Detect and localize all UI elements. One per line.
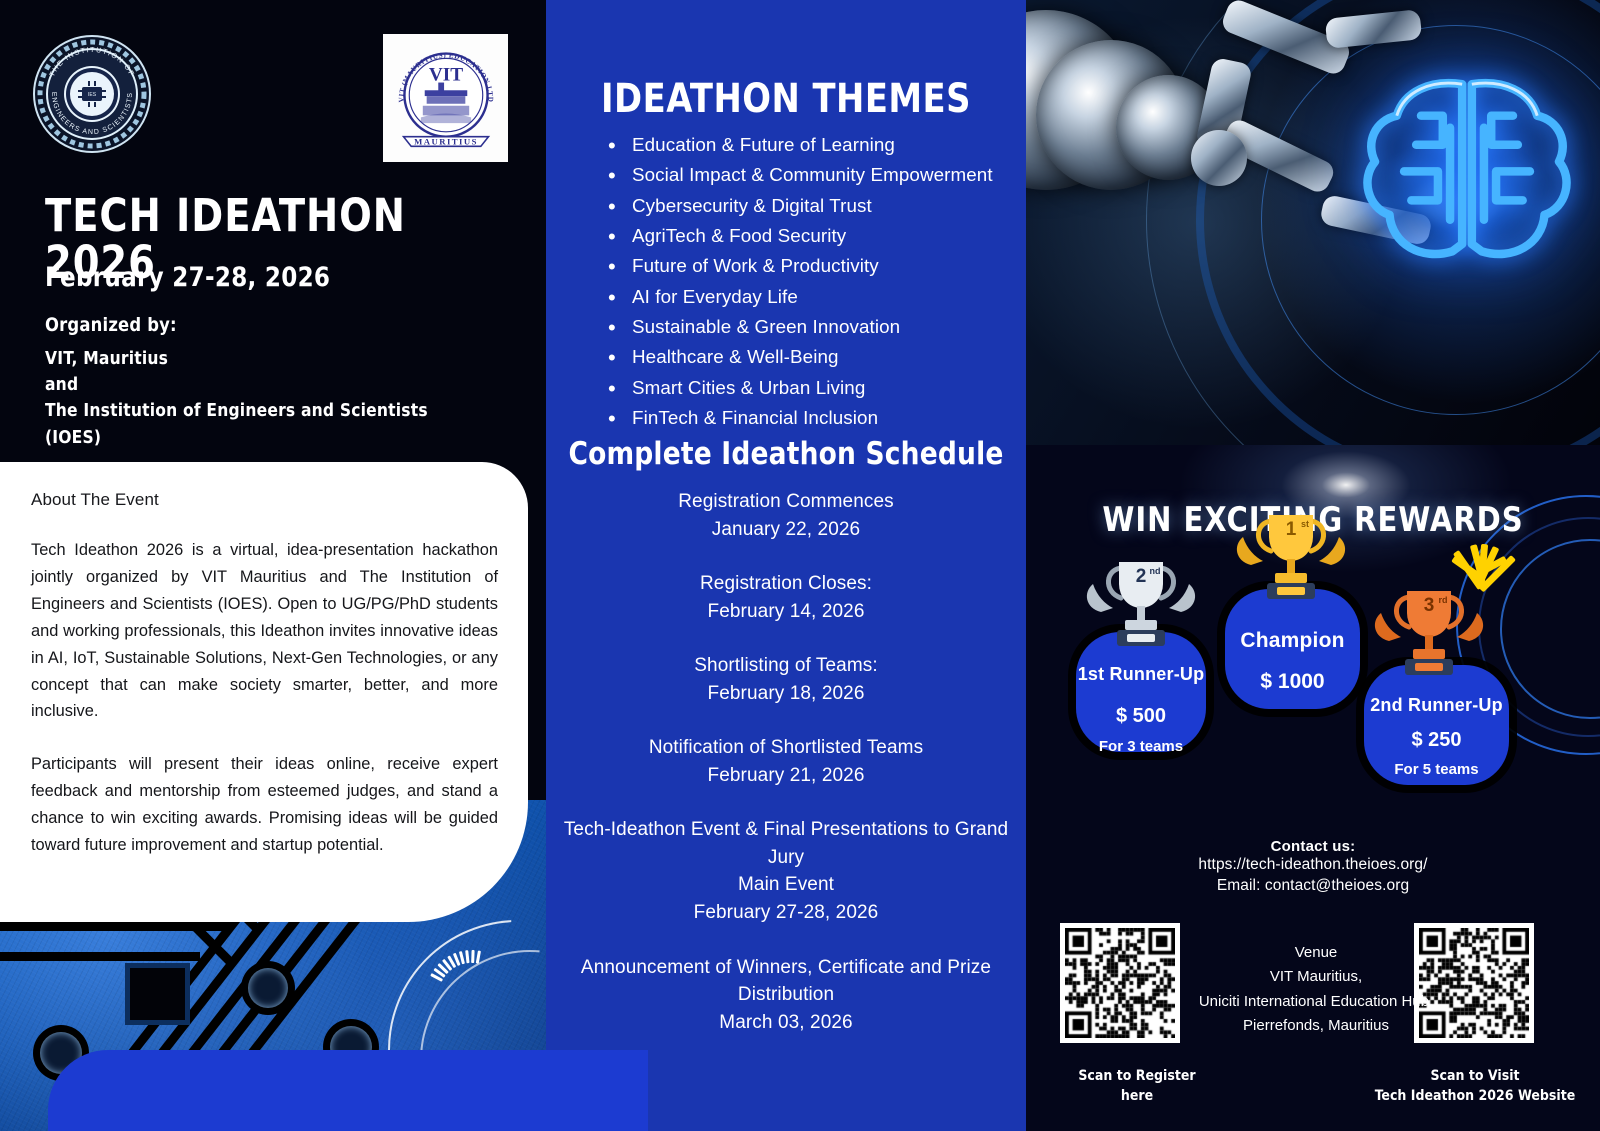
svg-text:IES: IES: [88, 92, 97, 98]
schedule-date: January 22, 2026: [562, 516, 1010, 544]
poster-root: IES THE INSTITUTION OF ENGINEERS AND SCI…: [0, 0, 1600, 1131]
svg-text:nd: nd: [1150, 566, 1161, 576]
about-event-card: About The Event Tech Ideathon 2026 is a …: [0, 462, 528, 922]
schedule-list: Registration CommencesJanuary 22, 2026Re…: [562, 488, 1010, 1063]
venue-line-0: VIT Mauritius,: [1166, 965, 1466, 989]
left-panel: IES THE INSTITUTION OF ENGINEERS AND SCI…: [0, 0, 546, 1131]
theme-item: Social Impact & Community Empowerment: [602, 162, 1022, 188]
prize-amount: $ 250: [1364, 729, 1509, 752]
themes-title: IDEATHON THEMES: [560, 76, 1011, 122]
schedule-item: Registration CommencesJanuary 22, 2026: [562, 488, 1010, 543]
theme-item: Future of Work & Productivity: [602, 253, 1022, 279]
event-date: February 27-28, 2026: [45, 262, 492, 293]
theme-item: Healthcare & Well-Being: [602, 344, 1022, 370]
schedule-title: Complete Ideathon Schedule: [558, 436, 1014, 472]
schedule-date: February 18, 2026: [562, 680, 1010, 708]
organizer-2: The Institution of Engineers and Scienti…: [45, 398, 506, 424]
venue-label: Venue: [1166, 941, 1466, 965]
robot-ai-brain-image: [1026, 0, 1600, 445]
organizers-block: Organized by: VIT, Mauritius and The Ins…: [45, 312, 506, 451]
venue-block: Venue VIT Mauritius, Uniciti Internation…: [1166, 941, 1466, 1038]
silver-trophy-icon: 2 nd: [1079, 550, 1203, 662]
bottom-blue-bar: [48, 1050, 648, 1131]
ai-brain-icon: [1342, 60, 1592, 290]
organizer-1: and: [45, 372, 506, 398]
scan-to-visit-label: Scan to VisitTech Ideathon 2026 Website: [1350, 1066, 1600, 1107]
theme-item: Smart Cities & Urban Living: [602, 375, 1022, 401]
theme-item: AgriTech & Food Security: [602, 223, 1022, 249]
svg-text:st: st: [1301, 519, 1309, 529]
prize-teams: For 5 teams: [1364, 761, 1509, 778]
schedule-date: February 14, 2026: [562, 598, 1010, 626]
prize-name: Champion: [1225, 629, 1360, 653]
prize-name: 2nd Runner-Up: [1364, 695, 1509, 716]
about-paragraph-1: Tech Ideathon 2026 is a virtual, idea-pr…: [31, 537, 498, 725]
schedule-date: February 27-28, 2026: [562, 899, 1010, 927]
about-heading: About The Event: [31, 490, 498, 510]
contact-heading: Contact us:: [1026, 838, 1600, 855]
prize-name: 1st Runner-Up: [1076, 664, 1206, 685]
svg-text:2: 2: [1136, 566, 1147, 587]
schedule-date: February 21, 2026: [562, 762, 1010, 790]
organizer-0: VIT, Mauritius: [45, 346, 506, 372]
schedule-sublabel: Main Event: [562, 871, 1010, 899]
schedule-label: Registration Closes:: [562, 570, 1010, 598]
svg-text:3: 3: [1424, 595, 1435, 616]
ioes-logo-icon: IES THE INSTITUTION OF ENGINEERS AND SCI…: [32, 34, 152, 164]
schedule-date: March 03, 2026: [562, 1009, 1010, 1037]
svg-text:rd: rd: [1439, 595, 1448, 605]
rewards-section: WIN EXCITING REWARDS: [1026, 445, 1600, 835]
organizer-3: (IOES): [45, 425, 506, 451]
prize-amount: $ 1000: [1225, 670, 1360, 694]
bronze-trophy-icon: 3 rd: [1367, 579, 1491, 691]
theme-item: AI for Everyday Life: [602, 284, 1022, 310]
schedule-item: Registration Closes:February 14, 2026: [562, 570, 1010, 625]
logo-row: IES THE INSTITUTION OF ENGINEERS AND SCI…: [0, 34, 546, 168]
scan-to-register-label: Scan to Registerhere: [1062, 1066, 1212, 1107]
middle-panel: IDEATHON THEMES Education & Future of Le…: [546, 0, 1026, 1131]
schedule-label: Shortlisting of Teams:: [562, 652, 1010, 680]
venue-line-1: Uniciti International Education Hub,: [1166, 990, 1466, 1014]
theme-item: Cybersecurity & Digital Trust: [602, 193, 1022, 219]
theme-item: FinTech & Financial Inclusion: [602, 405, 1022, 431]
schedule-label: Registration Commences: [562, 488, 1010, 516]
theme-item: Education & Future of Learning: [602, 132, 1022, 158]
theme-item: Sustainable & Green Innovation: [602, 314, 1022, 340]
contact-email[interactable]: Email: contact@theioes.org: [1026, 876, 1600, 897]
schedule-label: Announcement of Winners, Certificate and…: [562, 954, 1010, 1009]
contact-section: Contact us: https://tech-ideathon.theioe…: [1026, 838, 1600, 897]
prize-amount: $ 500: [1076, 705, 1206, 728]
register-qr-code[interactable]: [1060, 923, 1180, 1043]
svg-text:1: 1: [1286, 519, 1297, 540]
about-paragraph-2: Participants will present their ideas on…: [31, 751, 498, 859]
schedule-item: Tech-Ideathon Event & Final Presentation…: [562, 816, 1010, 926]
organized-by-label: Organized by:: [45, 312, 506, 340]
venue-line-2: Pierrefonds, Mauritius: [1166, 1014, 1466, 1038]
schedule-label: Notification of Shortlisted Teams: [562, 734, 1010, 762]
svg-text:MAURITIUS: MAURITIUS: [414, 136, 478, 146]
schedule-item: Announcement of Winners, Certificate and…: [562, 954, 1010, 1037]
gold-trophy-icon: 1 st: [1229, 503, 1353, 615]
schedule-item: Notification of Shortlisted TeamsFebruar…: [562, 734, 1010, 789]
right-panel: WIN EXCITING REWARDS: [1026, 0, 1600, 1131]
themes-list: Education & Future of LearningSocial Imp…: [602, 132, 1022, 435]
schedule-label: Tech-Ideathon Event & Final Presentation…: [562, 816, 1010, 871]
contact-website[interactable]: https://tech-ideathon.theioes.org/: [1026, 855, 1600, 876]
svg-text:VIT: VIT: [428, 65, 462, 86]
prize-teams: For 3 teams: [1076, 738, 1206, 755]
vit-logo-icon: VIT VIT (MAURITIUS) EDUCATION LTD MAURIT…: [383, 34, 508, 162]
schedule-item: Shortlisting of Teams:February 18, 2026: [562, 652, 1010, 707]
